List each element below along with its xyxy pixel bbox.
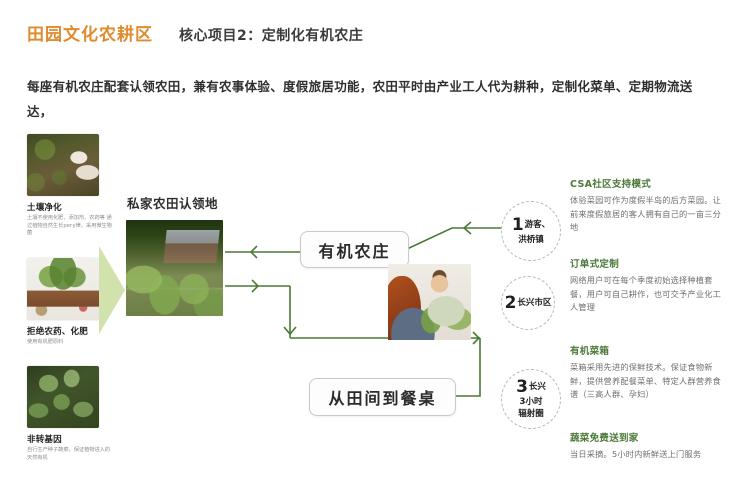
info-block-order-custom: 订单式定制 网络用户可在每个季度初始选择种植套餐，用户可自己耕作，也可交予产业化… xyxy=(570,258,726,315)
feature-item-non-gmo: 非转基因 自行生产种子蔬菜，保证植物进入的天然有机 xyxy=(27,366,119,462)
radius-circle-2: 2 长兴市区 xyxy=(501,276,555,330)
info-block-title: 有机菜箱 xyxy=(570,345,726,359)
node-organic-farm[interactable]: 有机农庄 xyxy=(300,231,409,268)
radius-circle-1: 1 游客、 洪桥镇 xyxy=(501,201,561,261)
info-block-body: 体验菜园可作为度假半岛的后方菜园。让前来度假旅居的客人拥有自己的一亩三分地 xyxy=(570,194,726,235)
feature-desc: 自行生产种子蔬菜，保证植物进入的天然有机 xyxy=(27,447,113,462)
info-block-csa: CSA社区支持模式 体验菜园可作为度假半岛的后方菜园。让前来度假旅居的客人拥有自… xyxy=(570,178,726,235)
feature-item-soil: 土壤净化 土壤不使用化肥、添加剂、农药等 通过植物自然生长регу律，采用微生物… xyxy=(27,134,119,238)
circle-number: 2 xyxy=(505,295,517,312)
info-block-organic-box: 有机菜箱 菜箱采用先进的保鲜技术。保证食物新鲜，提供营养配餐菜单、特定人群营养食… xyxy=(570,345,726,402)
green-leaves-photo xyxy=(27,366,99,428)
info-block-body: 当日采摘。5小时内新鲜送上门服务 xyxy=(570,448,726,462)
header-category: 田园文化农耕区 xyxy=(27,20,153,45)
lead-paragraph: 每座有机农庄配套认领农田，兼有农事体验、度假旅居功能，农田平时由产业工人代为耕种… xyxy=(27,74,717,124)
info-block-title: 订单式定制 xyxy=(570,258,726,272)
organic-farm-field-photo xyxy=(126,220,223,316)
page-header: 田园文化农耕区 核心项目2：定制化有机农庄 xyxy=(27,20,363,45)
soil-purification-photo xyxy=(27,134,99,196)
circle-label: 长兴 xyxy=(529,381,546,393)
info-block-title: 蔬菜免费送到家 xyxy=(570,432,726,446)
circle-label: 游客、 xyxy=(525,219,551,231)
claim-land-label: 私家农田认领地 xyxy=(127,193,218,212)
circle-label-line2: 洪桥镇 xyxy=(518,234,544,246)
circle-label: 长兴市区 xyxy=(517,297,551,309)
vegetable-basket-photo xyxy=(27,258,99,320)
info-block-title: CSA社区支持模式 xyxy=(570,178,726,192)
node-farm-to-table[interactable]: 从田间到餐桌 xyxy=(309,378,456,416)
feature-desc: 使用有机肥原料 xyxy=(27,339,113,347)
feature-title: 土壤净化 xyxy=(27,201,119,213)
info-block-body: 菜箱采用先进的保鲜技术。保证食物新鲜，提供营养配餐菜单、特定人群营养食谱（三高人… xyxy=(570,361,726,402)
circle-number: 3 xyxy=(516,379,528,396)
family-with-vegetables-photo xyxy=(388,264,471,340)
slide-root: 田园文化农耕区 核心项目2：定制化有机农庄 每座有机农庄配套认领农田，兼有农事体… xyxy=(0,0,740,492)
feature-title: 拒绝农药、化肥 xyxy=(27,325,119,337)
info-block-body: 网络用户可在每个季度初始选择种植套餐，用户可自己耕作，也可交予产业化工人管理 xyxy=(570,274,726,315)
circle-label-line2: 3小时 xyxy=(520,396,543,408)
circle-number: 1 xyxy=(512,217,524,234)
feature-desc: 土壤不使用化肥、添加剂、农药等 通过植物自然生长регу律，采用微生物菌 xyxy=(27,215,113,238)
circle-label-line3: 辐射圈 xyxy=(518,408,544,420)
page-title: 核心项目2：定制化有机农庄 xyxy=(179,25,363,45)
info-block-free-delivery: 蔬菜免费送到家 当日采摘。5小时内新鲜送上门服务 xyxy=(570,432,726,462)
radius-circle-3: 3 长兴 3小时 辐射圈 xyxy=(501,369,561,429)
feature-title: 非转基因 xyxy=(27,433,119,445)
